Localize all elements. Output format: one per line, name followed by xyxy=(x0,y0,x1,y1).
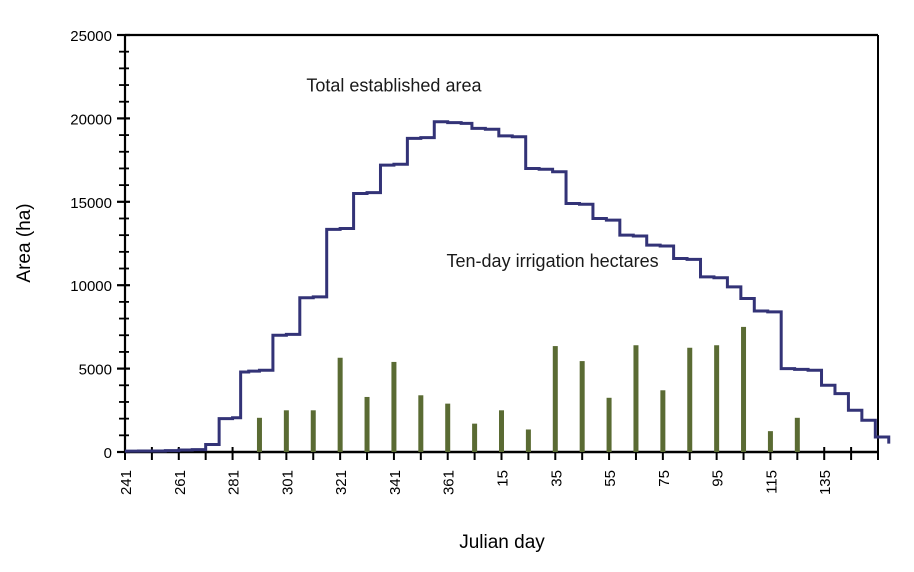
x-tick-label: 35 xyxy=(548,470,565,487)
bar xyxy=(633,345,638,452)
bar xyxy=(391,362,396,452)
x-tick-label: 241 xyxy=(118,470,135,495)
y-tick-label: 0 xyxy=(104,445,112,462)
bar xyxy=(311,410,316,452)
x-tick-label: 95 xyxy=(710,470,727,487)
x-tick-label: 261 xyxy=(172,470,189,495)
bar xyxy=(741,327,746,452)
bar xyxy=(607,398,612,452)
x-tick-label: 341 xyxy=(387,470,404,495)
bar xyxy=(553,346,558,452)
series-annotation-label: Total established area xyxy=(306,76,482,96)
bar xyxy=(526,429,531,452)
bar xyxy=(257,418,262,452)
x-tick-label: 281 xyxy=(226,470,243,495)
chart-container: 0500010000150002000025000 24126128130132… xyxy=(0,0,914,572)
area-chart: 0500010000150002000025000 24126128130132… xyxy=(0,0,914,572)
bar xyxy=(660,390,665,452)
bar xyxy=(499,410,504,452)
y-tick-label: 15000 xyxy=(70,195,112,212)
bar xyxy=(687,348,692,452)
x-tick-label: 135 xyxy=(817,470,834,495)
y-tick-label: 20000 xyxy=(70,111,112,128)
y-tick-label: 5000 xyxy=(79,362,112,379)
bar xyxy=(365,397,370,452)
y-tick-label: 25000 xyxy=(70,28,112,45)
bar xyxy=(418,395,423,452)
x-tick-label: 361 xyxy=(441,470,458,495)
x-tick-label: 55 xyxy=(602,470,619,487)
bar xyxy=(338,358,343,452)
y-axis-title: Area (ha) xyxy=(14,203,35,282)
bar xyxy=(472,424,477,452)
bar xyxy=(445,404,450,452)
x-axis-title: Julian day xyxy=(459,532,545,553)
bar xyxy=(284,410,289,452)
x-tick-label: 15 xyxy=(495,470,512,487)
series-annotation-label: Ten-day irrigation hectares xyxy=(447,251,659,271)
bar xyxy=(714,345,719,452)
x-tick-label: 301 xyxy=(279,470,296,495)
x-tick-label: 321 xyxy=(333,470,350,495)
bar xyxy=(795,418,800,452)
y-tick-label: 10000 xyxy=(70,278,112,295)
bar xyxy=(768,431,773,452)
x-tick-label: 75 xyxy=(656,470,673,487)
x-tick-label: 115 xyxy=(763,470,780,494)
bar xyxy=(580,361,585,452)
